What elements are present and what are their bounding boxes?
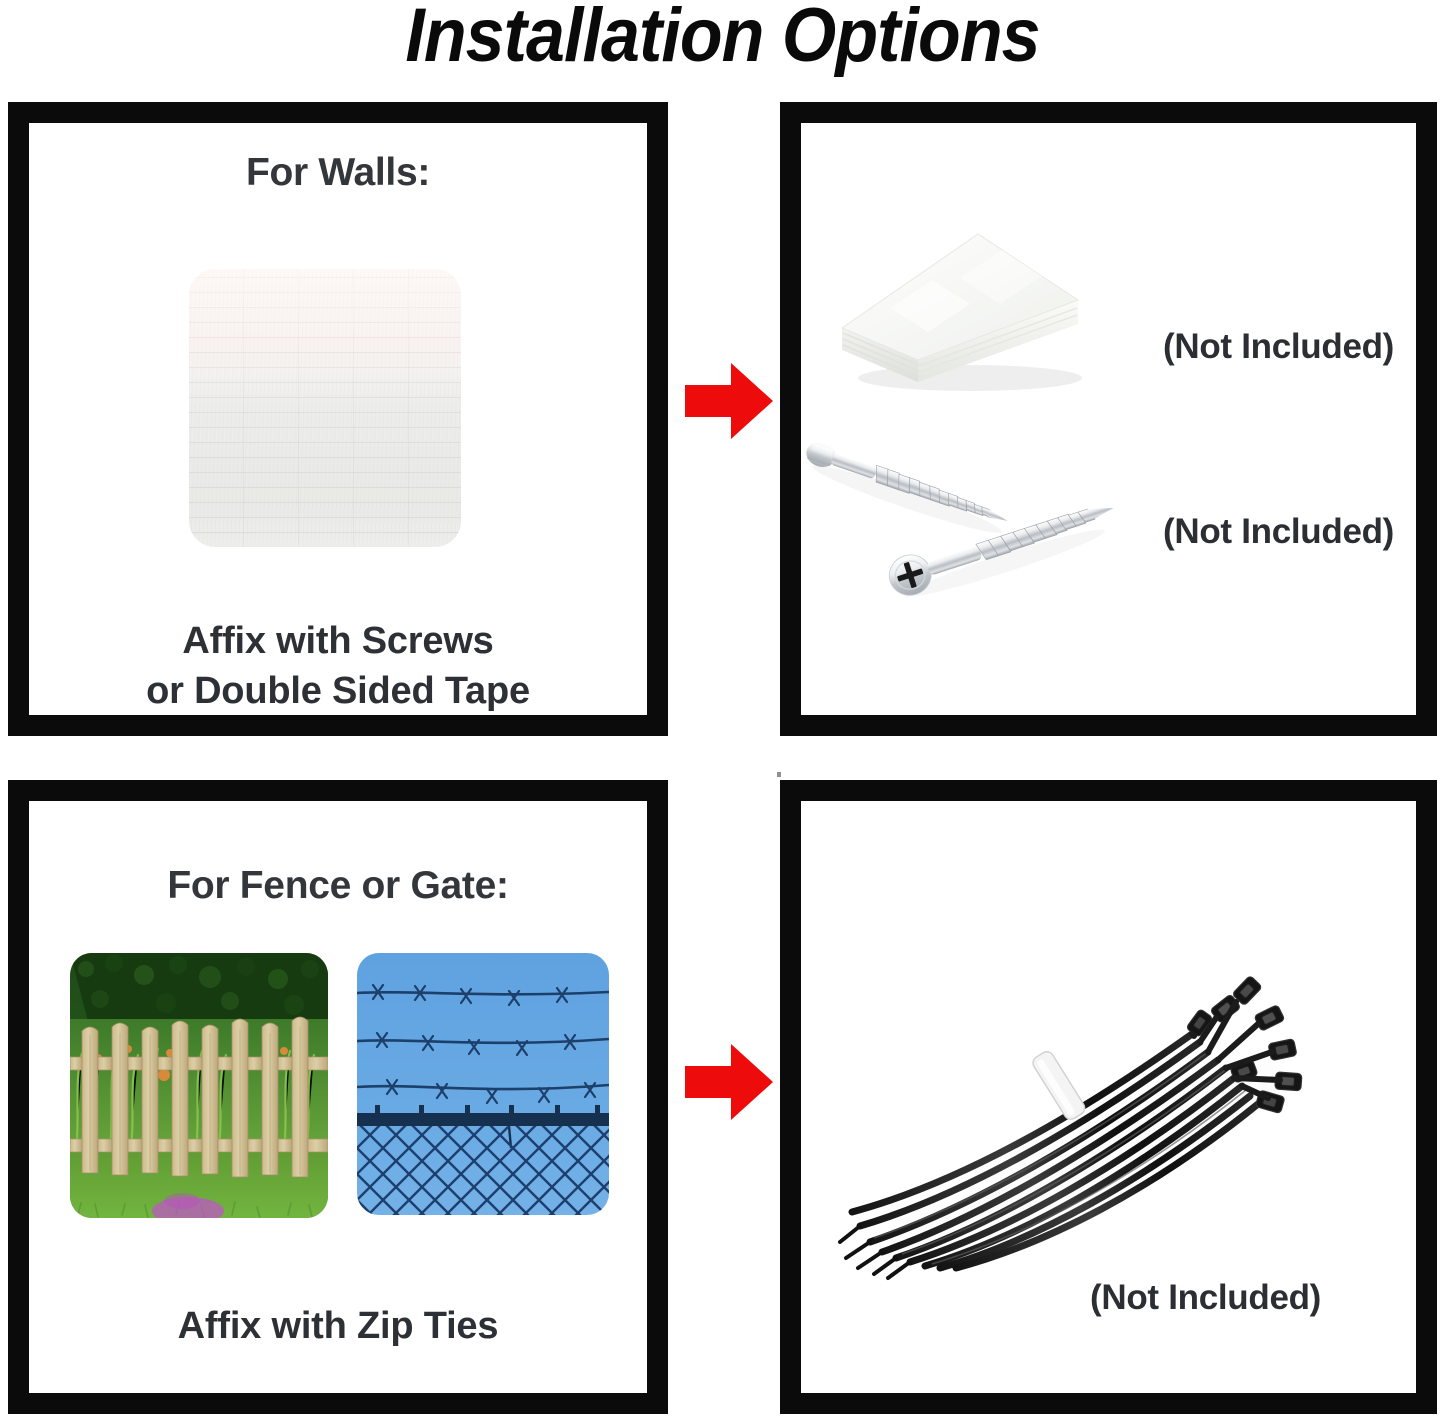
image-artifact-dot [777, 772, 781, 777]
brick-highlight-wash [189, 269, 461, 547]
panel-for-walls: For Walls: Affix with Screws or Double S… [8, 102, 668, 736]
black-zip-tie-bundle-image [830, 890, 1330, 1290]
panel-walls-caption-line2: or Double Sided Tape [29, 666, 647, 716]
red-right-arrow-icon-bottom [683, 1040, 775, 1124]
panel-fence-heading: For Fence or Gate: [29, 864, 647, 908]
panel-fence-caption: Affix with Zip Ties [29, 1301, 647, 1351]
white-brick-wall-image [189, 269, 461, 547]
ziptie-not-included-label: (Not Included) [1090, 1278, 1321, 1318]
wooden-picket-fence-photo [70, 953, 328, 1218]
page-title: Installation Options [58, 0, 1387, 78]
tape-not-included-label: (Not Included) [1163, 327, 1394, 367]
silver-wood-screws-image [795, 425, 1165, 605]
double-sided-tape-stack-image [820, 212, 1100, 402]
screws-not-included-label: (Not Included) [1163, 512, 1394, 552]
panel-wall-hardware [780, 102, 1437, 736]
panel-walls-caption-line1: Affix with Screws [29, 616, 647, 666]
installation-options-infographic: Installation Options For Walls: Affix wi… [0, 0, 1445, 1422]
red-right-arrow-icon-top [683, 359, 775, 443]
chain-link-barbed-wire-fence-photo [357, 953, 609, 1215]
panel-walls-heading: For Walls: [29, 151, 647, 195]
